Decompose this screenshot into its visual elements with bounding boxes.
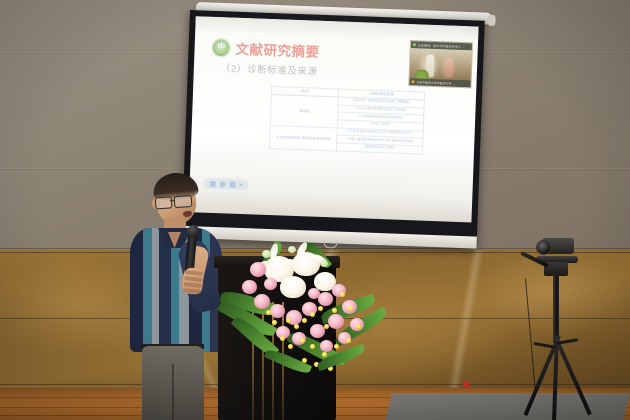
video-inset-bottom-label: 北京中医药大学中医药大学… [416,80,454,85]
microphone-head-icon [186,225,199,238]
video-figure-right [446,58,454,77]
slide-next-button-icon[interactable] [240,182,243,186]
institution-logo-icon: 中 [211,37,231,57]
presenter-hand [182,267,205,295]
diagnostic-criteria-table: 疾病 诊断标准及来源 哮喘病 《内科学》中医临床诊疗指南《哮喘病》 《中华人民共… [269,86,425,154]
presenter-trousers [142,346,204,420]
camera-tripod [520,232,606,418]
floral-arrangement [224,244,410,378]
camera-cable [525,278,536,394]
tripod-center-column [553,275,559,343]
table-row-label: 反复呼吸道感染/慢性咳嗽/急性咳嗽 [269,125,337,150]
video-inset-bottombar: 北京中医药大学中医药大学… [409,78,472,87]
presenter [128,176,226,420]
video-inset-frame [410,48,472,80]
projection-screen: 中 文献研究摘要 （2）诊断标准及来源 疾病 诊断标准及来源 哮喘病 《内科学》… [190,2,490,254]
camera-lens-icon [536,240,551,255]
live-status-dot-icon [413,43,416,46]
slide-header: 中 文献研究摘要 [211,37,320,61]
table-row-label: 哮喘病 [270,94,338,127]
screen-black-border: 中 文献研究摘要 （2）诊断标准及来源 疾病 诊断标准及来源 哮喘病 《内科学》… [182,10,485,249]
presentation-photo-scene: 中 文献研究摘要 （2）诊断标准及来源 疾病 诊断标准及来源 哮喘病 《内科学》… [0,0,630,420]
eyeglasses-icon [155,195,198,208]
logo-character: 中 [217,43,225,51]
screen-surface: 中 文献研究摘要 （2）诊断标准及来源 疾病 诊断标准及来源 哮喘病 《内科学》… [189,16,479,222]
red-floor-marker [463,382,469,387]
slide-video-inset[interactable]: 正在播放：新时代中医药传承人… 北京中医药大学中医药大学… [408,40,473,88]
slide-notes-button-icon[interactable] [230,181,236,187]
slide-content: 中 文献研究摘要 （2）诊断标准及来源 疾病 诊断标准及来源 哮喘病 《内科学》… [189,16,479,222]
channel-dot-icon [411,80,414,83]
slide-title: 文献研究摘要 [235,38,320,61]
slide-subtitle: （2）诊断标准及来源 [221,60,318,78]
screen-case-cap [487,15,495,26]
